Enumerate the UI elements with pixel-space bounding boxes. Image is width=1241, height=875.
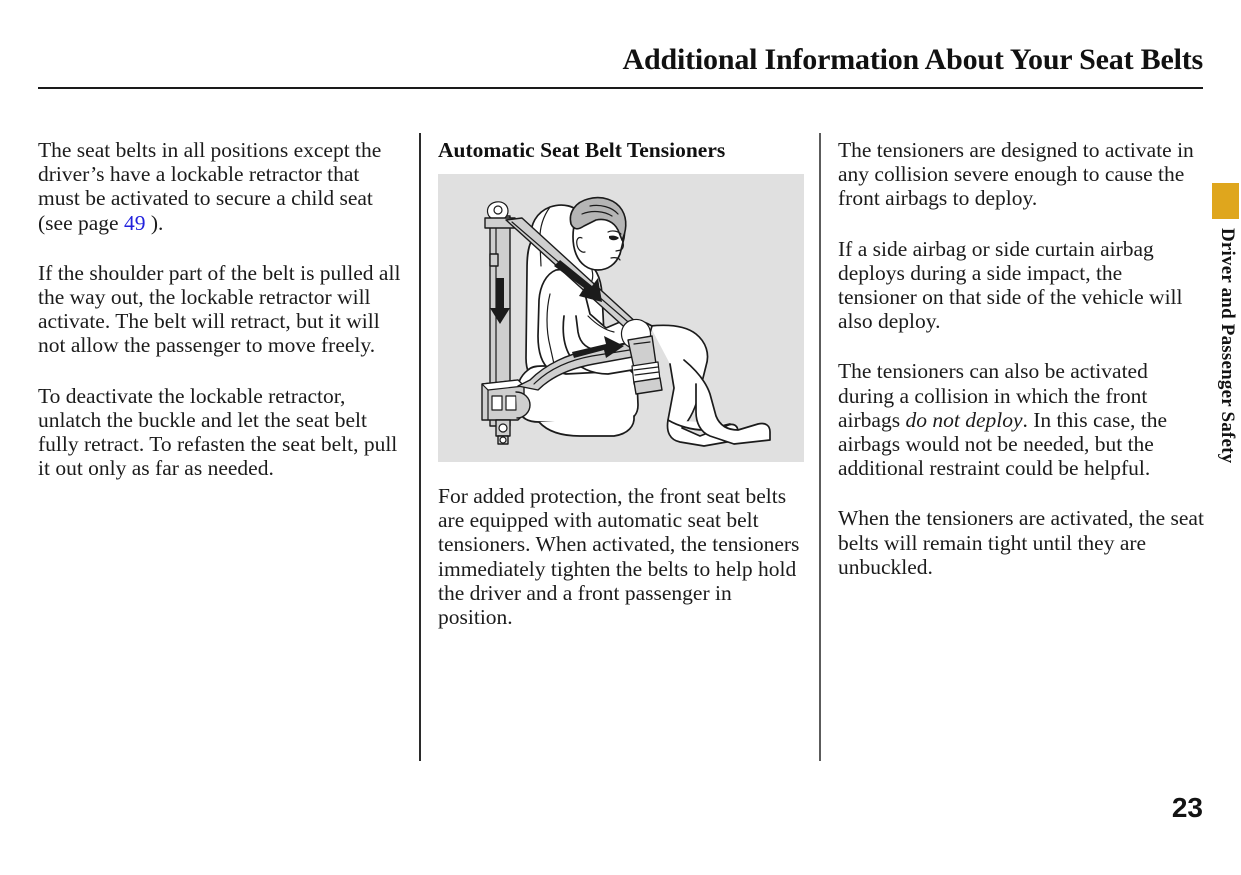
section-tab xyxy=(1212,183,1239,219)
paragraph-deactivate-retractor: To deactivate the lockable retractor, un… xyxy=(38,384,404,481)
paragraph-lockable-retractor-intro: The seat belts in all positions except t… xyxy=(38,138,404,235)
section-heading-automatic-seat-belt-tensioners: Automatic Seat Belt Tensioners xyxy=(438,138,804,162)
paragraph-tensioners-designed-to-activate: The tensioners are designed to activate … xyxy=(838,138,1204,211)
paragraph-shoulder-belt-pulled-out: If the shoulder part of the belt is pull… xyxy=(38,261,404,358)
section-tab-label: Driver and Passenger Safety xyxy=(1214,228,1240,463)
paragraph-text: The seat belts in all positions except t… xyxy=(38,138,381,235)
seat-belt-tensioner-illustration: .ln { fill:none; stroke:#1b1b1b; stroke-… xyxy=(438,174,804,462)
left-column: The seat belts in all positions except t… xyxy=(38,138,404,480)
page-title: Additional Information About Your Seat B… xyxy=(623,42,1203,78)
paragraph-belts-remain-tight: When the tensioners are activated, the s… xyxy=(838,506,1204,579)
paragraph-text-tail: ). xyxy=(145,211,163,235)
right-column: The tensioners are designed to activate … xyxy=(838,138,1204,579)
emphasis-do-not-deploy: do not deploy xyxy=(905,408,1022,432)
paragraph-added-protection: For added protection, the front seat bel… xyxy=(438,484,804,629)
column-divider-left xyxy=(419,133,421,761)
header-rule xyxy=(38,87,1203,89)
page-number: 23 xyxy=(1172,793,1203,823)
section-tab-marker xyxy=(1212,183,1239,219)
paragraph-side-airbag-deploy: If a side airbag or side curtain airbag … xyxy=(838,237,1204,334)
page-header: Additional Information About Your Seat B… xyxy=(38,42,1203,90)
middle-column: Automatic Seat Belt Tensioners .ln { fil… xyxy=(438,138,804,629)
seated-occupant-with-belt-diagram: .ln { fill:none; stroke:#1b1b1b; stroke-… xyxy=(438,174,804,462)
paragraph-front-airbags-do-not-deploy: The tensioners can also be activated dur… xyxy=(838,359,1204,480)
column-divider-right xyxy=(819,133,821,761)
page-cross-reference-link[interactable]: 49 xyxy=(124,211,146,235)
